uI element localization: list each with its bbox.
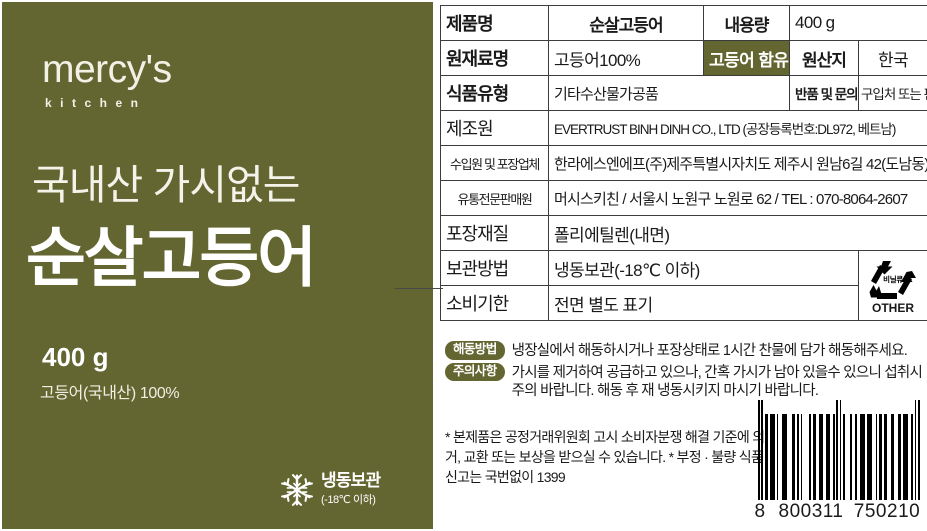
spec-label-expiry: 소비기한 [441,286,549,321]
product-headline-secondary: 국내산 가시없는 [32,165,422,206]
usage-notes-block: 해동방법 냉장실에서 해동하시거나 포장상태로 1시간 찬물에 담가 해동해주세… [445,341,927,403]
product-front-panel: mercy's kitchen 국내산 가시없는 순살고등어 400 g 고등어… [2,2,433,529]
spec-label-manufacturer: 제조원 [441,111,549,146]
table-row: 보관방법 냉동보관(-18℃ 이하) [441,251,927,286]
spec-value-distributor: 머시스키친 / 서울시 노원구 노원로 62 / TEL : 070-8064-… [549,181,927,216]
barcode-block: 8 800311 750210 [750,414,925,530]
ingredient-note-front: 고등어(국내산) 100% [40,379,179,403]
net-weight-front: 400 g [42,342,109,373]
spec-value-net-weight: 400 g [790,6,927,41]
spec-value-importer: 한라에스엔에프(주)제주특별시자치도 제주시 원남6길 42(도남동) [549,146,927,181]
spec-value-manufacturer: EVERTRUST BINH DINH CO., LTD (공장등록번호:DL9… [549,111,927,146]
note-row-caution: 주의사항 가시를 제거하여 공급하고 있으나, 간혹 가시가 남아 있을수 있으… [445,363,927,401]
recycle-outer-label: OTHER [872,302,914,314]
table-row: 식품유형 기타수산물가공품 반품 및 문의 구입처 또는 판매원 [441,76,927,111]
snowflake-icon [280,473,314,507]
note-text-caution: 가시를 제거하여 공급하고 있으나, 간혹 가시가 남아 있을수 있으니 섭취시… [512,363,927,401]
barcode-lead-digit: 8 [750,501,770,523]
table-row: 포장재질 폴리에틸렌(내면) [441,216,927,251]
brand-logo: mercy's kitchen [42,50,172,110]
spec-label-product-name: 제품명 [441,6,549,41]
recycle-mark-cell: 비닐류 OTHER [859,251,927,321]
spec-value-expiry: 전면 별도 표기 [549,286,859,321]
spec-label-importer: 수입원 및 포장업체 [441,146,549,181]
barcode-right-group: 750210 [852,501,922,523]
legal-footer-text: * 본제품은 공정거래위원회 고시 소비자분쟁 해결 기준에 의거, 교환 또는… [445,428,765,488]
spec-value-returns: 구입처 또는 판매원 [859,76,927,111]
spec-label-food-type: 식품유형 [441,76,549,111]
panel-connector-rule [395,288,443,289]
spec-label-returns: 반품 및 문의 [790,76,859,111]
table-row: 제품명 순살고등어 내용량 400 g [441,6,927,41]
product-headline-primary: 순살고등어 [26,224,426,292]
note-badge-caution: 주의사항 [445,363,505,382]
barcode-digits: 8 800311 750210 [750,500,925,524]
spec-label-packaging-material: 포장재질 [441,216,549,251]
recycle-inner-label: 비닐류 [883,274,903,284]
barcode-bars [758,414,920,500]
spec-value-origin: 한국 [859,41,927,76]
barcode-left-group: 800311 [776,501,846,523]
spec-value-ingredients: 고등어100% [549,41,704,76]
spec-value-storage: 냉동보관(-18℃ 이하) [549,251,859,286]
table-row: 제조원 EVERTRUST BINH DINH CO., LTD (공장등록번호… [441,111,927,146]
spec-label-net-weight: 내용량 [704,6,790,41]
note-text-thawing: 냉장실에서 해동하시거나 포장상태로 1시간 찬물에 담가 해동해주세요. [512,341,907,361]
product-spec-table: 제품명 순살고등어 내용량 400 g 원재료명 고등어100% 고등어 함유 … [440,5,927,321]
spec-value-packaging-material: 폴리에틸렌(내면) [549,216,927,251]
brand-name: mercy's [42,50,172,89]
spec-value-product-name: 순살고등어 [549,6,704,41]
recycle-icon: 비닐류 OTHER [864,258,922,314]
spec-label-distributor: 유통전문판매원 [441,181,549,216]
product-info-area: 제품명 순살고등어 내용량 400 g 원재료명 고등어100% 고등어 함유 … [440,0,927,531]
table-row: 수입원 및 포장업체 한라에스엔에프(주)제주특별시자치도 제주시 원남6길 4… [441,146,927,181]
table-row: 원재료명 고등어100% 고등어 함유 원산지 한국 [441,41,927,76]
spec-label-origin: 원산지 [790,41,859,76]
spec-label-storage: 보관방법 [441,251,549,286]
frozen-storage-temp: (-18℃ 이하) [321,494,375,506]
spec-value-food-type: 기타수산물가공품 [549,76,790,111]
table-row: 소비기한 전면 별도 표기 [441,286,927,321]
allergen-badge: 고등어 함유 [704,41,790,76]
note-row-thawing: 해동방법 냉장실에서 해동하시거나 포장상태로 1시간 찬물에 담가 해동해주세… [445,341,927,361]
frozen-storage-lockup: 냉동보관 (-18℃ 이하) [280,472,380,508]
frozen-storage-title: 냉동보관 [321,471,380,490]
note-badge-thawing: 해동방법 [445,341,505,360]
brand-tagline: kitchen [45,96,172,110]
spec-label-ingredients: 원재료명 [441,41,549,76]
table-row: 유통전문판매원 머시스키친 / 서울시 노원구 노원로 62 / TEL : 0… [441,181,927,216]
